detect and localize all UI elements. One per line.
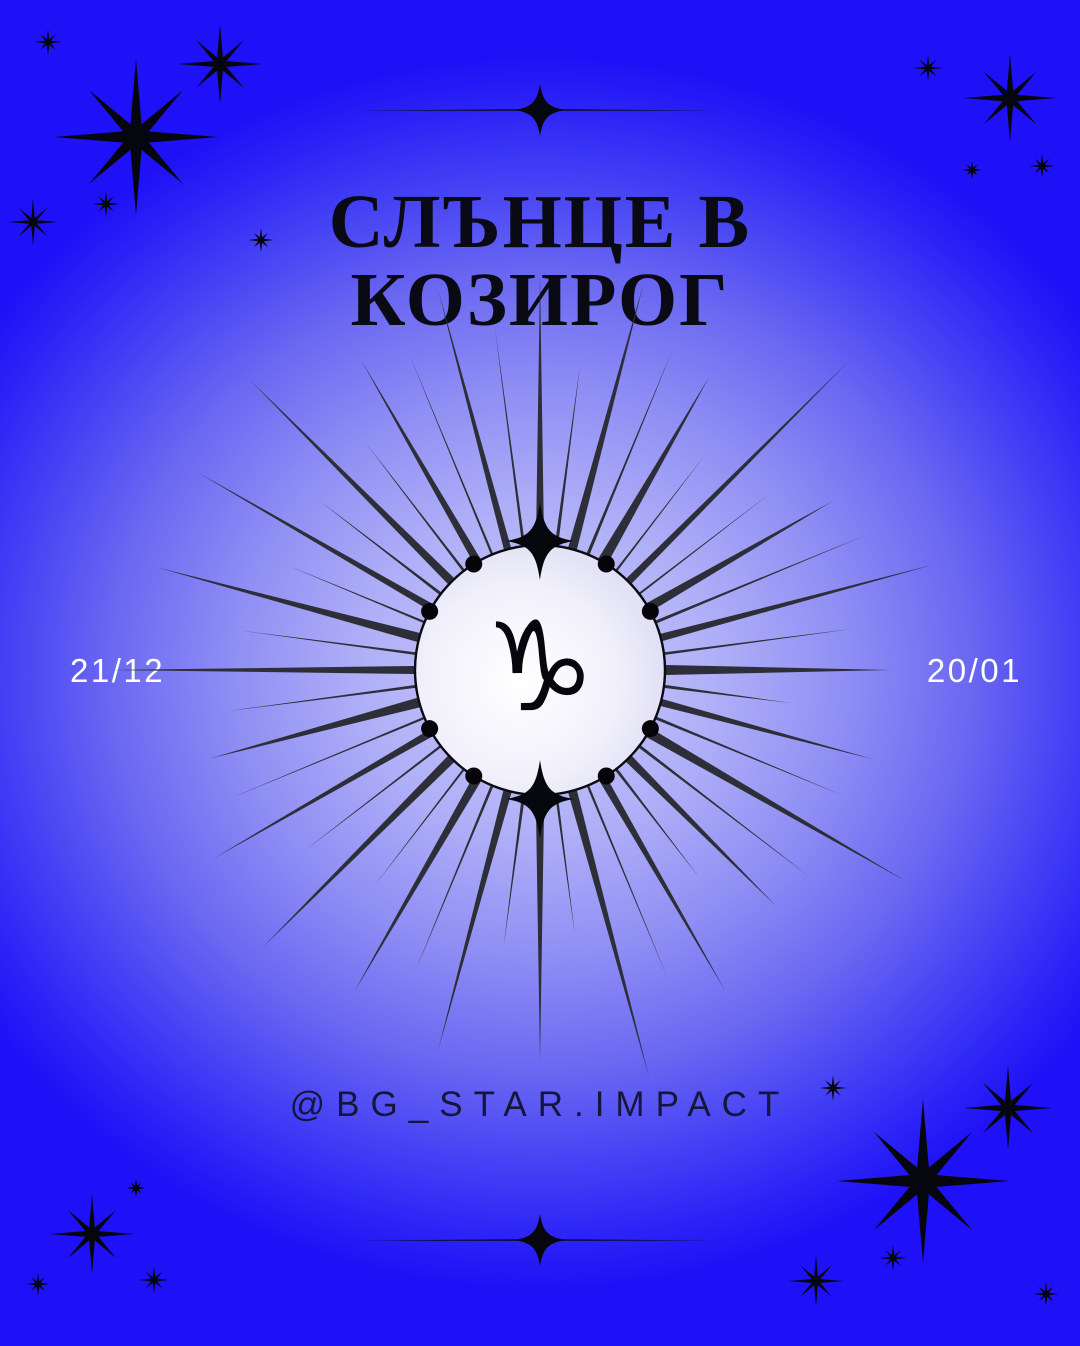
sunburst-ray (665, 629, 854, 655)
sunburst-ray (661, 699, 874, 759)
sunburst-ray (555, 795, 575, 936)
sunburst-ray (504, 795, 526, 947)
poster-canvas: СЛЪНЦЕ В КОЗИРОГ 21/12 20/01 ♑ @BG_STAR.… (0, 0, 1080, 1346)
sunburst-ray (209, 698, 420, 759)
sparkle-icon (837, 1099, 1009, 1263)
sparkle-icon (248, 228, 273, 252)
sparkle-icon (139, 1266, 168, 1294)
sparkle-group-icon (18, 1168, 178, 1308)
sparkle-icon (964, 54, 1056, 142)
sunburst-ray (647, 729, 905, 881)
sparkle-icon (819, 1075, 846, 1101)
sparkle-icon (92, 191, 119, 217)
sparkle-icon (964, 1066, 1052, 1150)
sparkle-group-icon (8, 22, 308, 292)
sparkle-icon (879, 1245, 906, 1271)
capricorn-glyph-icon: ♑ (415, 545, 665, 795)
sunburst-ray (198, 473, 433, 611)
sunburst-ray (665, 685, 791, 703)
sparkle-icon (127, 1179, 146, 1197)
sparkle-icon (178, 24, 262, 104)
sparkle-icon (1033, 1282, 1058, 1306)
sparkle-icon (789, 1255, 844, 1307)
sparkle-group-icon (884, 38, 1074, 198)
sparkle-icon (50, 1194, 134, 1274)
sparkle-cluster-top-left (8, 22, 308, 292)
sparkle-cluster-bottom-right (778, 1066, 1078, 1346)
sparkle-icon (26, 1273, 49, 1295)
sunburst-ray (666, 665, 891, 675)
sparkle-icon (54, 59, 218, 215)
sunburst-ray (599, 377, 709, 563)
sparkle-cluster-bottom-left (18, 1168, 178, 1308)
sparkle-icon (1029, 154, 1054, 178)
sunburst-ray (242, 631, 415, 655)
sparkle-group-icon (778, 1066, 1078, 1346)
sunburst-ray (362, 361, 481, 563)
sparkle-icon (913, 54, 942, 82)
sunburst-ray (555, 365, 580, 545)
sparkle-cluster-top-right (884, 38, 1074, 198)
sparkle-icon (8, 198, 58, 246)
sunburst-ray (112, 666, 414, 674)
sparkle-icon (963, 161, 982, 179)
sunburst-ray (647, 501, 833, 611)
sparkle-icon (34, 29, 61, 55)
